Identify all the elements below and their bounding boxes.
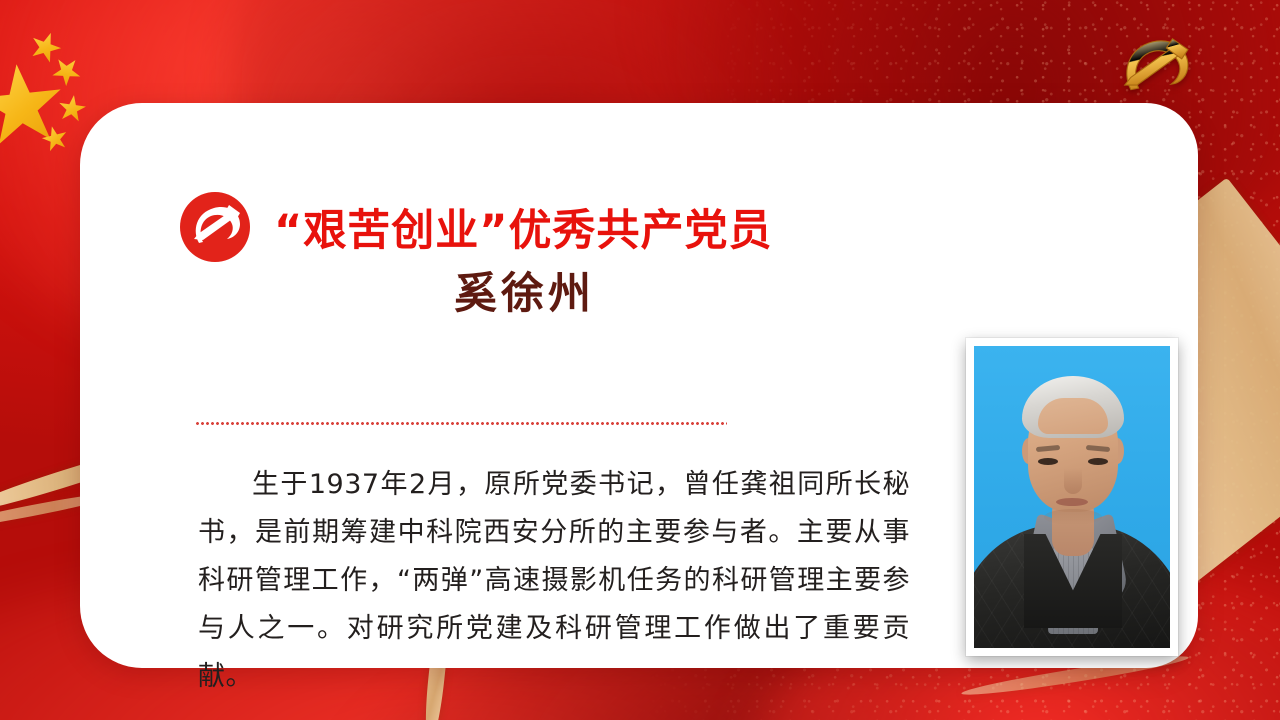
page-title: “艰苦创业”优秀共产党员 — [274, 196, 773, 258]
content-card: “艰苦创业”优秀共产党员 奚徐州 生于1937年2月，原所党委书记，曾任龚祖同所… — [80, 103, 1198, 668]
portrait-nose — [1064, 468, 1082, 494]
portrait-eye-right — [1088, 458, 1108, 465]
person-name: 奚徐州 — [454, 259, 595, 321]
cpc-hammer-sickle-gold-icon — [1106, 28, 1202, 102]
biography-paragraph: 生于1937年2月，原所党委书记，曾任龚祖同所长秘书，是前期筹建中科院西安分所的… — [198, 461, 910, 701]
portrait-eye-left — [1038, 458, 1058, 465]
portrait-frame — [966, 338, 1178, 656]
flag-star-small-3 — [56, 93, 88, 125]
dotted-divider — [195, 422, 727, 425]
portrait-chin — [1044, 509, 1102, 525]
slide-root: “艰苦创业”优秀共产党员 奚徐州 生于1937年2月，原所党委书记，曾任龚祖同所… — [0, 0, 1280, 720]
portrait-hair — [1022, 376, 1124, 438]
portrait-mouth — [1056, 498, 1088, 506]
portrait-photo — [974, 346, 1170, 648]
flag-star-small-2 — [46, 51, 87, 92]
cpc-party-badge-icon — [179, 191, 251, 263]
